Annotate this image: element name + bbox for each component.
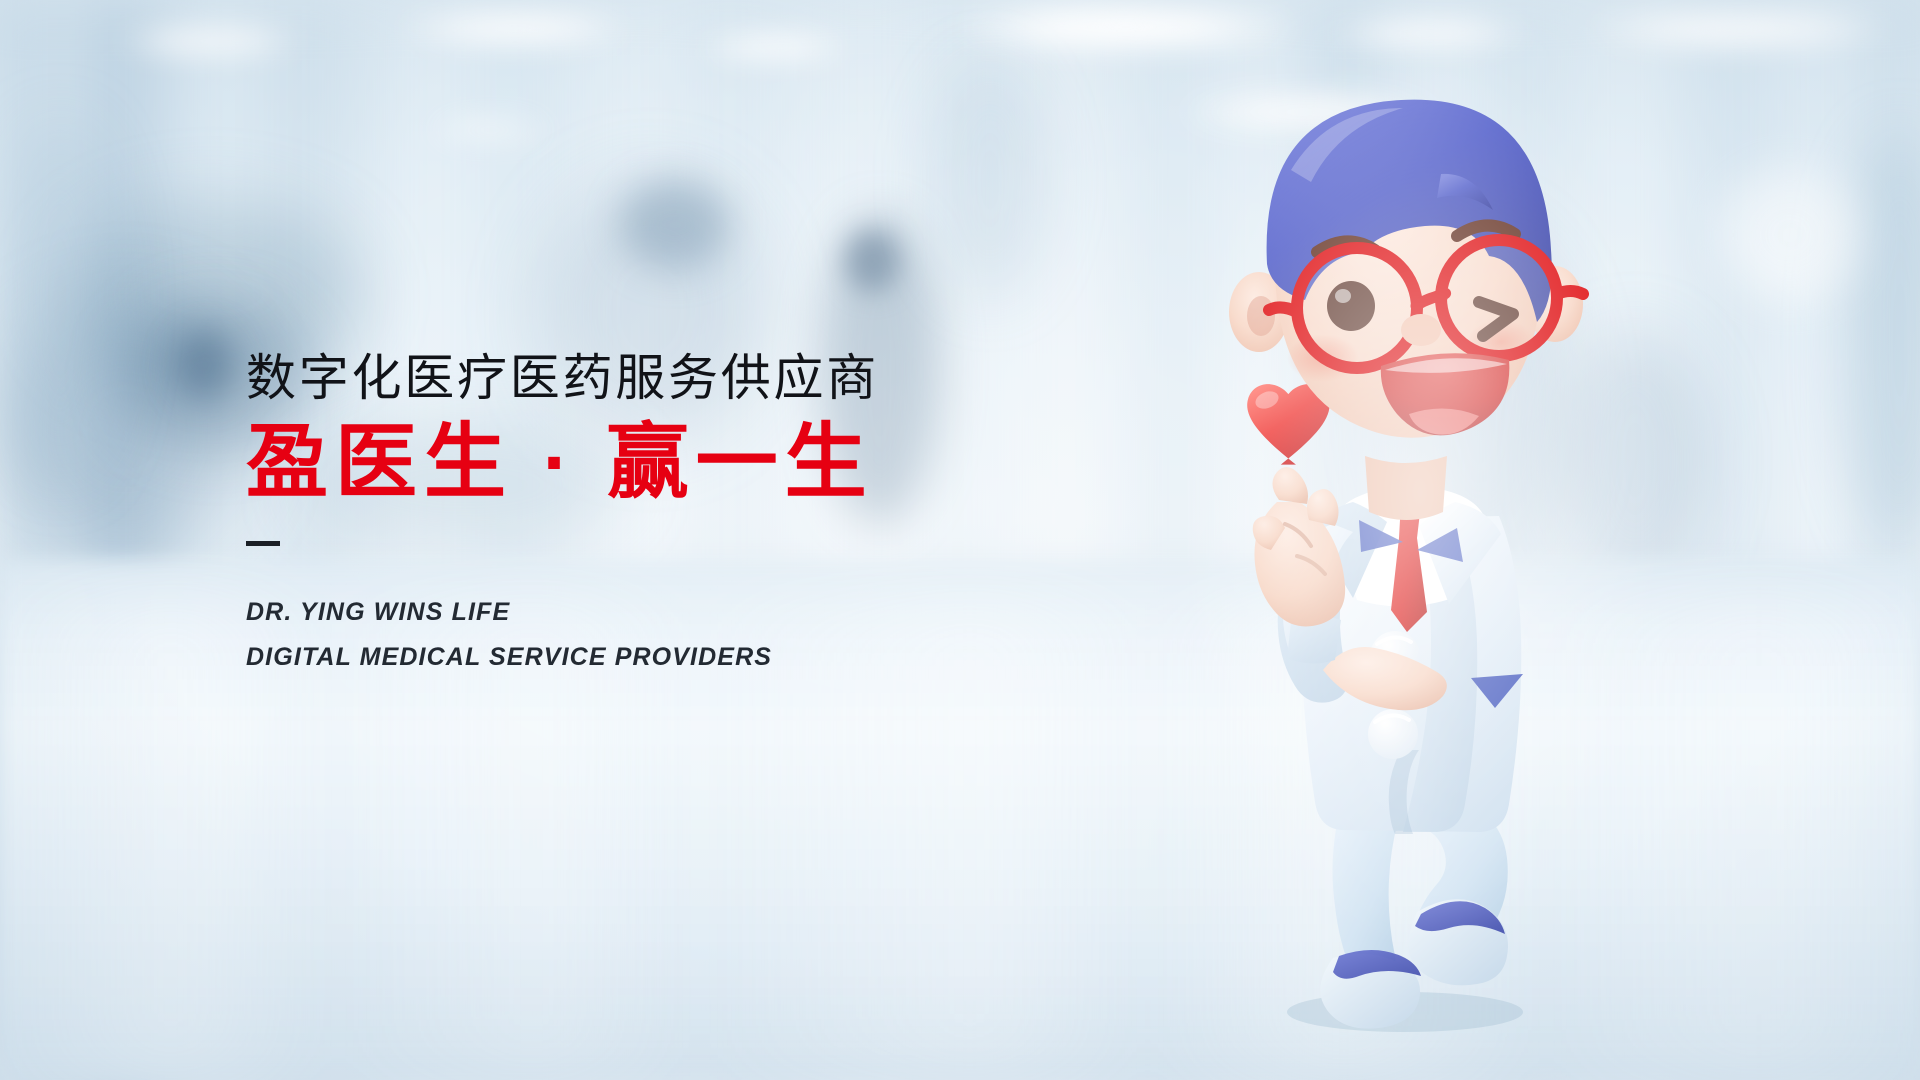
mascot-head xyxy=(1229,100,1583,438)
banner-stage: 数字化医疗医药服务供应商 盈医生 · 赢一生 DR. YING WINS LIF… xyxy=(0,0,1920,1080)
banner-copy: 数字化医疗医药服务供应商 盈医生 · 赢一生 DR. YING WINS LIF… xyxy=(246,352,1006,679)
banner-headline: 盈医生 · 赢一生 xyxy=(246,419,1006,508)
mascot-neck xyxy=(1365,456,1447,520)
banner-eyebrow: 数字化医疗医药服务供应商 xyxy=(246,352,1006,405)
banner-subtitle-line2: DIGITAL MEDICAL SERVICE PROVIDERS xyxy=(246,635,1006,680)
divider-rule xyxy=(246,541,280,546)
mascot-right-arm xyxy=(1253,467,1353,664)
nose xyxy=(1401,314,1441,346)
banner-subtitle-line1: DR. YING WINS LIFE xyxy=(246,590,1006,635)
doctor-mascot xyxy=(1205,50,1625,1040)
banner-subtitle: DR. YING WINS LIFE DIGITAL MEDICAL SERVI… xyxy=(246,590,1006,679)
